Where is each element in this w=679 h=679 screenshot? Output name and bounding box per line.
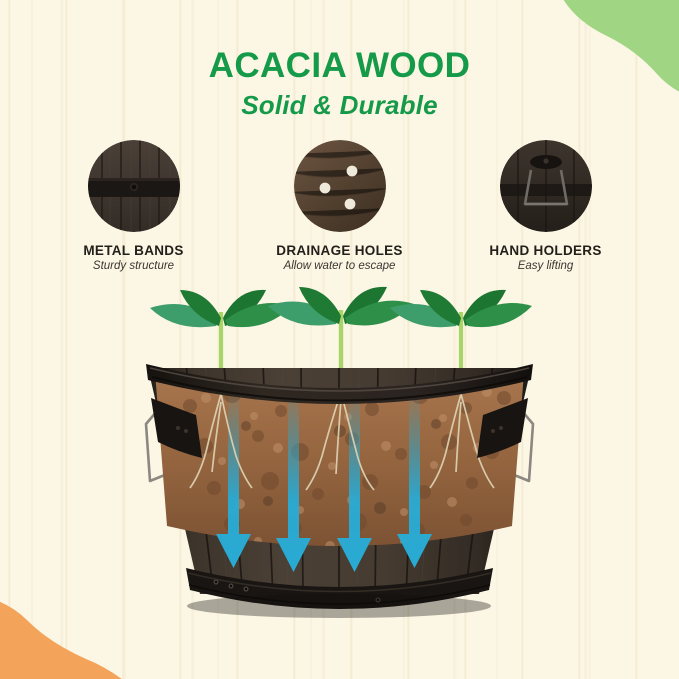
metal-band-closeup-icon: [88, 140, 180, 232]
page-title: ACACIA WOOD: [0, 47, 679, 84]
planter-illustration: [0, 276, 679, 636]
feature-subtitle: Allow water to escape: [265, 260, 415, 272]
feature-hand-holders: HAND HOLDERS Easy lifting: [471, 140, 621, 272]
planter-base-shadow: [187, 594, 491, 618]
feature-subtitle: Sturdy structure: [59, 260, 209, 272]
product-infographic: ACACIA WOOD Solid & Durable: [0, 0, 679, 679]
feature-title: HAND HOLDERS: [471, 243, 621, 258]
heading-block: ACACIA WOOD Solid & Durable: [0, 47, 679, 121]
drainage-holes-closeup-icon: [294, 140, 386, 232]
hand-holder-closeup-icon: [500, 140, 592, 232]
feature-list: METAL BANDS Sturdy structure: [0, 140, 679, 272]
feature-drainage-holes: DRAINAGE HOLES Allow water to escape: [265, 140, 415, 272]
feature-title: DRAINAGE HOLES: [265, 243, 415, 258]
page-subtitle: Solid & Durable: [0, 90, 679, 121]
feature-title: METAL BANDS: [59, 243, 209, 258]
feature-subtitle: Easy lifting: [471, 260, 621, 272]
feature-metal-bands: METAL BANDS Sturdy structure: [59, 140, 209, 272]
